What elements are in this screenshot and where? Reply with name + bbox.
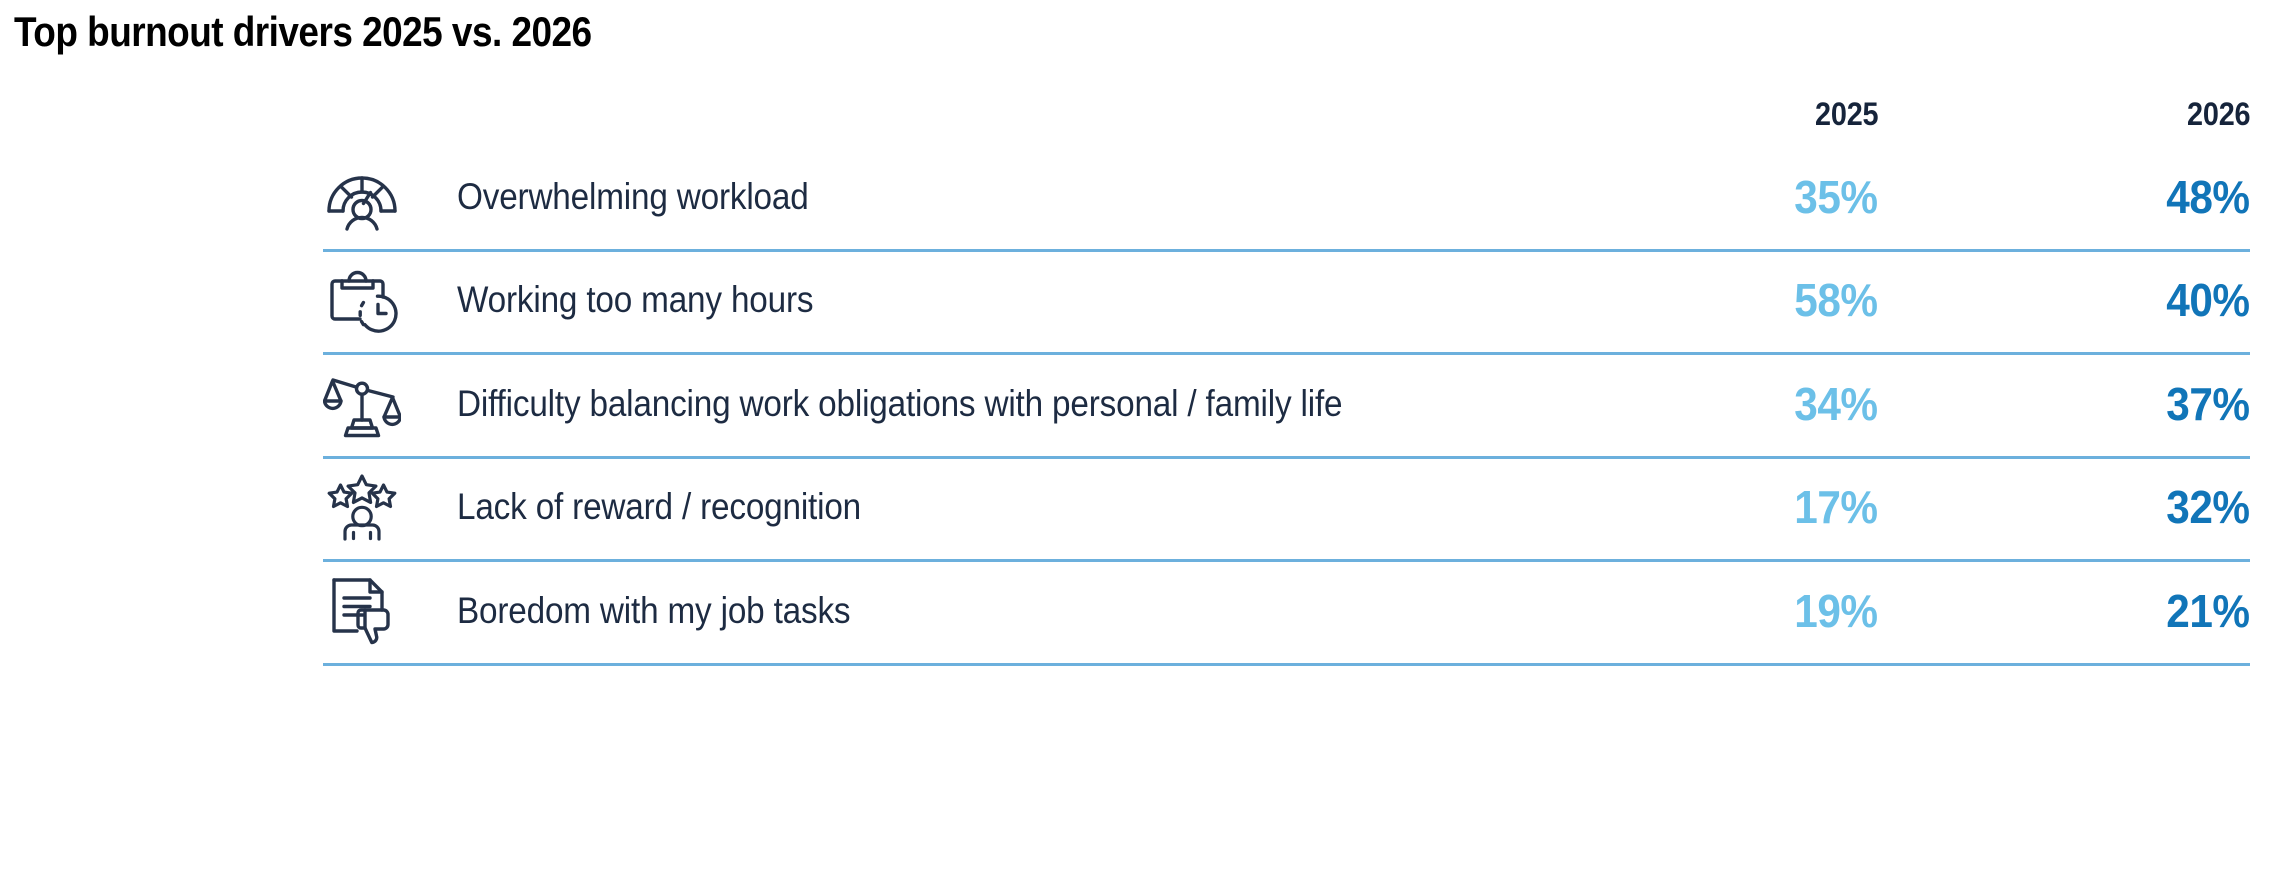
- column-header-2025: 2025: [1815, 96, 1878, 133]
- table-row: Boredom with my job tasks 19% 21%: [323, 562, 2250, 666]
- value-2025: 34%: [1795, 377, 1878, 431]
- table-row: Working too many hours 58% 40%: [323, 252, 2250, 356]
- row-label: Overwhelming workload: [457, 176, 809, 218]
- row-label: Working too many hours: [457, 279, 813, 321]
- value-2026: 21%: [2167, 584, 2250, 638]
- table-header-row: 2025 2026: [323, 96, 2250, 148]
- row-label: Difficulty balancing work obligations wi…: [457, 383, 1342, 425]
- column-header-2026: 2026: [2187, 96, 2250, 133]
- row-label: Lack of reward / recognition: [457, 486, 861, 528]
- briefcase-clock-icon: [323, 264, 407, 336]
- table-row: Lack of reward / recognition 17% 32%: [323, 459, 2250, 563]
- value-2026: 40%: [2167, 273, 2250, 327]
- value-2025: 58%: [1795, 273, 1878, 327]
- table-row: Difficulty balancing work obligations wi…: [323, 355, 2250, 459]
- value-2026: 32%: [2167, 480, 2250, 534]
- page-title: Top burnout drivers 2025 vs. 2026: [14, 8, 592, 56]
- value-2026: 48%: [2167, 170, 2250, 224]
- gauge-person-icon: [323, 161, 407, 233]
- row-label: Boredom with my job tasks: [457, 590, 850, 632]
- value-2026: 37%: [2167, 377, 2250, 431]
- scales-balance-icon: [323, 368, 407, 440]
- stars-person-icon: [323, 471, 407, 543]
- value-2025: 19%: [1795, 584, 1878, 638]
- value-2025: 17%: [1795, 480, 1878, 534]
- burnout-drivers-infographic: Top burnout drivers 2025 vs. 2026 2025 2…: [0, 0, 2270, 892]
- burnout-drivers-table: 2025 2026: [323, 96, 2250, 666]
- value-2025: 35%: [1795, 170, 1878, 224]
- document-thumbsdown-icon: [323, 575, 407, 647]
- table-row: Overwhelming workload 35% 48%: [323, 148, 2250, 252]
